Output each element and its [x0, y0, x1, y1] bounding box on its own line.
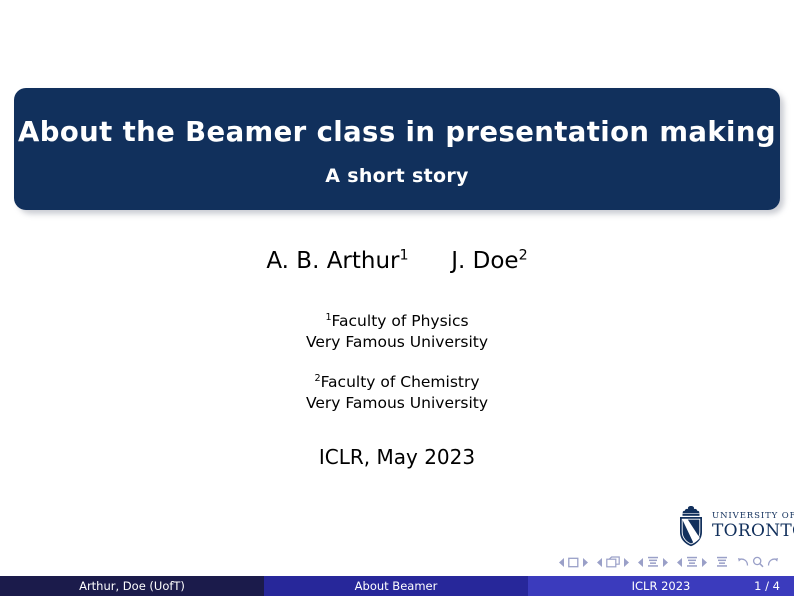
affiliation-entry: 1Faculty of Physics Very Famous Universi…	[0, 311, 794, 354]
prev-frame-arrow-icon[interactable]	[597, 558, 603, 567]
author-affiliation-mark: 2	[519, 247, 528, 263]
subsection-icon[interactable]	[647, 556, 659, 568]
slide-icon[interactable]	[568, 557, 579, 568]
search-navigation-group[interactable]	[737, 556, 779, 568]
university-logo-line1: UNIVERSITY OF	[712, 512, 794, 521]
footer-page-number: 1 / 4	[754, 576, 780, 596]
uoft-shield-crest-icon	[676, 505, 706, 547]
university-logo: UNIVERSITY OF TORONTO	[676, 503, 788, 549]
title-block: About the Beamer class in presentation m…	[14, 88, 780, 210]
affiliation-list: 1Faculty of Physics Very Famous Universi…	[0, 311, 794, 415]
next-subsection-arrow-icon[interactable]	[662, 558, 668, 567]
author-list: A. B. Arthur1 J. Doe2	[0, 248, 794, 274]
university-logo-wordmark: UNIVERSITY OF TORONTO	[712, 512, 794, 540]
affiliation-entry: 2Faculty of Chemistry Very Famous Univer…	[0, 372, 794, 415]
author-name: J. Doe	[451, 248, 518, 274]
affiliation-department-line: 1Faculty of Physics	[0, 311, 794, 332]
author-entry: A. B. Arthur1	[266, 248, 408, 274]
slide-footer: Arthur, Doe (UofT) About Beamer ICLR 202…	[0, 576, 794, 596]
affiliation-department: Faculty of Chemistry	[321, 373, 480, 391]
page-subtitle: A short story	[325, 165, 468, 187]
frame-navigation-group[interactable]	[597, 556, 629, 568]
footer-date-label: ICLR 2023	[632, 579, 691, 593]
author-name: A. B. Arthur	[266, 248, 399, 274]
prev-slide-arrow-icon[interactable]	[559, 558, 565, 567]
beamer-navigation-symbols[interactable]	[559, 553, 786, 571]
page-title: About the Beamer class in presentation m…	[18, 117, 776, 147]
subsection-navigation-group[interactable]	[638, 556, 668, 568]
prev-subsection-arrow-icon[interactable]	[638, 558, 644, 567]
next-section-arrow-icon[interactable]	[701, 558, 707, 567]
presentation-date: ICLR, May 2023	[0, 445, 794, 469]
prev-section-arrow-icon[interactable]	[677, 558, 683, 567]
slide-navigation-group[interactable]	[559, 557, 588, 568]
back-icon[interactable]	[737, 556, 749, 568]
frame-icon[interactable]	[606, 556, 620, 568]
presentation-slide: About the Beamer class in presentation m…	[0, 0, 794, 596]
footer-date-segment: ICLR 2023 1 / 4	[528, 576, 794, 596]
footer-author-segment: Arthur, Doe (UofT)	[0, 576, 264, 596]
appendix-navigation-group[interactable]	[716, 556, 728, 568]
footer-title-segment: About Beamer	[264, 576, 528, 596]
author-affiliation-mark: 1	[400, 247, 409, 263]
affiliation-department: Faculty of Physics	[332, 312, 469, 330]
next-slide-arrow-icon[interactable]	[582, 558, 588, 567]
university-logo-line2: TORONTO	[712, 523, 794, 540]
next-frame-arrow-icon[interactable]	[623, 558, 629, 567]
author-entry: J. Doe2	[451, 248, 527, 274]
appendix-icon[interactable]	[716, 556, 728, 568]
affiliation-department-line: 2Faculty of Chemistry	[0, 372, 794, 393]
forward-icon[interactable]	[767, 556, 779, 568]
affiliation-institution: Very Famous University	[0, 393, 794, 414]
section-navigation-group[interactable]	[677, 556, 707, 568]
find-icon[interactable]	[752, 556, 764, 568]
affiliation-institution: Very Famous University	[0, 332, 794, 353]
section-icon[interactable]	[686, 556, 698, 568]
